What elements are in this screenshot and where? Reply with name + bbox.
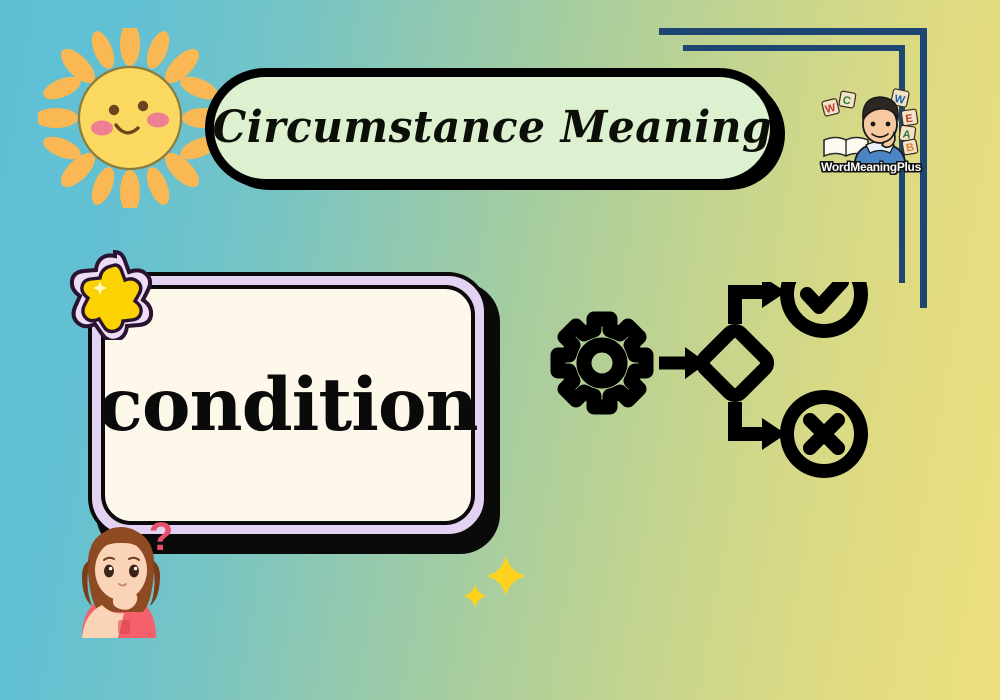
poster-canvas: Circumstance Meaning W C W E A B [0,0,1000,700]
thinking-girl-icon: ? [68,512,186,638]
thinking-man-icon [854,97,906,166]
x-circle-icon [787,397,861,471]
elbow-arrow-up-icon [735,282,786,324]
corner-frame-outer-horizontal [659,28,927,35]
title-banner-pill: Circumstance Meaning [205,68,779,188]
brand-name: WordMeaningPlus [810,160,932,174]
gear-icon [558,319,646,407]
elbow-arrow-down-icon [735,402,786,450]
diamond-icon [700,328,771,399]
check-circle-icon [787,282,861,331]
title-banner: Circumstance Meaning [205,68,785,190]
brand-logo[interactable]: W C W E A B [810,82,932,176]
sparkle-icon [462,550,534,614]
star-badge-icon [68,248,162,340]
word-label: condition [98,369,477,442]
smiling-sun-icon [38,28,223,208]
page-title: Circumstance Meaning [212,106,771,150]
corner-frame-inner-horizontal [683,45,905,51]
flowchart-diagram [528,282,878,544]
